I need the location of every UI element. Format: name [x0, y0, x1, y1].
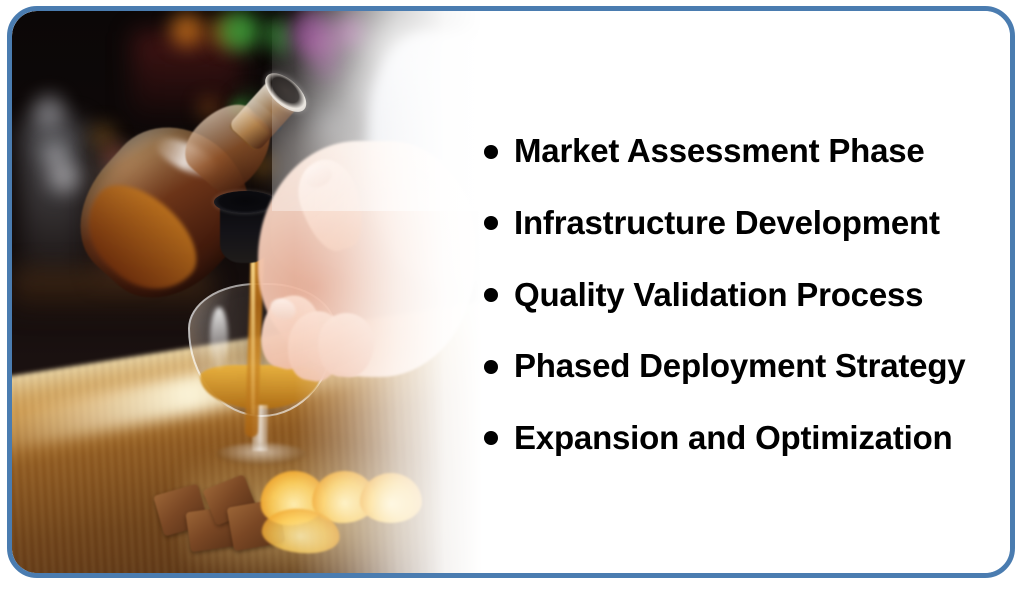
bullet-item-label: Quality Validation Process — [514, 278, 923, 313]
bullet-item-4[interactable]: Phased Deployment Strategy — [477, 349, 1010, 384]
bullet-item-label: Expansion and Optimization — [514, 421, 953, 456]
bullet-point-icon — [484, 145, 498, 159]
bullet-item-2[interactable]: Infrastructure Development — [477, 206, 1010, 241]
bullet-point-icon — [484, 216, 498, 230]
bullet-item-label: Infrastructure Development — [514, 206, 940, 241]
bullet-point-icon — [484, 288, 498, 302]
slide-content: Market Assessment Phase Infrastructure D… — [12, 11, 1010, 573]
bullet-item-5[interactable]: Expansion and Optimization — [477, 421, 1010, 456]
bullet-item-3[interactable]: Quality Validation Process — [477, 278, 1010, 313]
bullet-point-icon — [484, 360, 498, 374]
cognac-pour-photo — [12, 11, 482, 573]
bullet-item-label: Market Assessment Phase — [514, 134, 925, 169]
bullet-item-1[interactable]: Market Assessment Phase — [477, 134, 1010, 169]
bullet-item-label: Phased Deployment Strategy — [514, 349, 965, 384]
bullet-list: Market Assessment Phase Infrastructure D… — [477, 11, 1010, 573]
bullet-point-icon — [484, 431, 498, 445]
slide-frame: Market Assessment Phase Infrastructure D… — [7, 6, 1015, 578]
photo-fade-mask — [12, 11, 482, 573]
